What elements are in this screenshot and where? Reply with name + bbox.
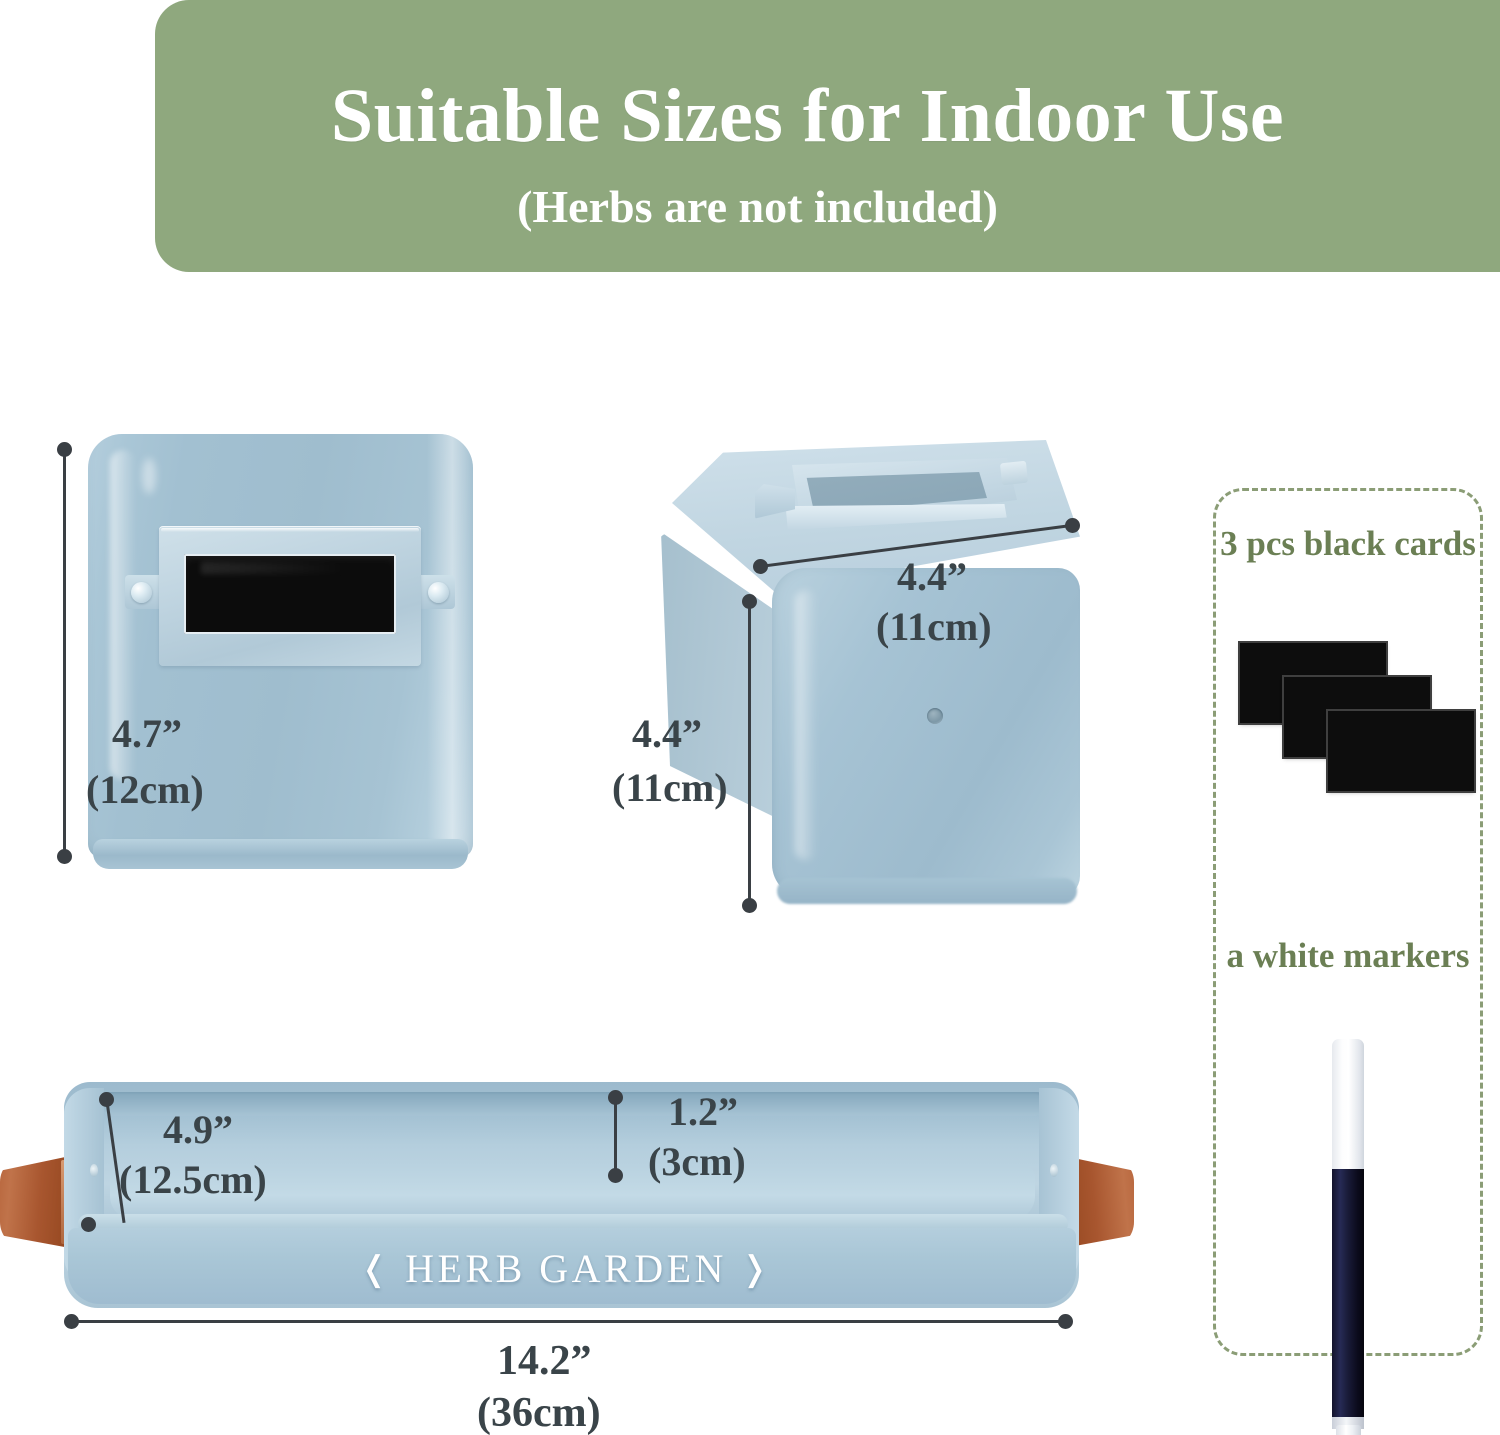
- product-planter-angled-view: [655, 440, 1080, 910]
- dimension-dot-top: [57, 442, 72, 457]
- white-marker-pen: [1328, 1039, 1368, 1435]
- tray-screw-left-icon: [90, 1164, 98, 1177]
- dimension-dot-tray-length-left: [64, 1314, 79, 1329]
- holder-top-tab-right: [1000, 461, 1028, 486]
- planter-front-gloss: [795, 590, 817, 860]
- dimension-dot-width-left: [753, 559, 768, 574]
- black-cards-label: 3 pcs black cards: [1216, 523, 1480, 566]
- dimension-line-planter-height: [63, 448, 66, 856]
- dimension-dot-tray-inner-top: [99, 1092, 114, 1107]
- dimension-label-tray-depth-cm: (3cm): [648, 1140, 746, 1185]
- accessories-panel: 3 pcs black cards a white markers: [1213, 488, 1483, 1356]
- black-label-card: [184, 554, 396, 634]
- black-cards-group: [1236, 643, 1480, 803]
- dimension-dot-bottom: [57, 849, 72, 864]
- dimension-dot-tray-depth-top: [608, 1090, 623, 1105]
- header-banner: Suitable Sizes for Indoor Use (Herbs are…: [155, 0, 1500, 272]
- marker-tip: [1336, 1425, 1361, 1435]
- dimension-dot-tray-inner-bottom: [81, 1217, 96, 1232]
- marker-barrel: [1332, 1169, 1364, 1421]
- dimension-label-tray-inner-width-in: 4.9”: [163, 1108, 233, 1153]
- dimension-label-planter-angled-height-cm: (11cm): [612, 766, 728, 811]
- dimension-label-planter-angled-height-in: 4.4”: [632, 712, 702, 757]
- dimension-line-tray-length: [70, 1320, 1070, 1323]
- dimension-label-planter-width-in: 4.4”: [897, 555, 967, 600]
- planter-angled-base: [777, 878, 1077, 904]
- dimension-dot-tray-depth-bottom: [608, 1168, 623, 1183]
- rivet-left-icon: [131, 582, 152, 603]
- dimension-label-tray-length-in: 14.2”: [497, 1338, 592, 1385]
- dimension-label-planter-height-cm: (12cm): [86, 768, 204, 813]
- planter-specular-dot: [142, 458, 156, 494]
- planter-right-edge-highlight: [427, 434, 473, 858]
- dimension-label-planter-height-in: 4.7”: [112, 712, 182, 757]
- dimension-label-tray-inner-width-cm: (12.5cm): [119, 1158, 267, 1203]
- dimension-label-tray-depth-in: 1.2”: [668, 1090, 738, 1135]
- page-subtitle: (Herbs are not included): [517, 184, 1138, 230]
- marker-cap: [1332, 1039, 1364, 1171]
- wreath-right-icon: ❭: [740, 1249, 772, 1289]
- card-holder-frame: [159, 526, 421, 666]
- tray-screw-right-icon: [1050, 1164, 1058, 1177]
- dimension-label-tray-length-cm: (36cm): [477, 1390, 601, 1435]
- dimension-dot-width-right: [1065, 518, 1080, 533]
- tray-inner-back-wall: [100, 1094, 1045, 1116]
- dimension-label-planter-width-cm: (11cm): [876, 605, 992, 650]
- black-card: [1328, 711, 1474, 791]
- dimension-line-planter-angled-height: [748, 600, 751, 905]
- rivet-right-icon: [428, 582, 449, 603]
- dimension-dot-tray-length-right: [1058, 1314, 1073, 1329]
- dimension-dot-angled-top: [742, 594, 757, 609]
- wreath-left-icon: ❬: [360, 1249, 392, 1289]
- holder-top-lip: [781, 504, 1009, 530]
- page-title: Suitable Sizes for Indoor Use: [331, 78, 1324, 154]
- drainage-hole-icon: [927, 708, 943, 724]
- dimension-dot-angled-bottom: [742, 898, 757, 913]
- card-holder-top-frame: [767, 458, 1017, 546]
- dimension-line-tray-depth: [614, 1096, 617, 1176]
- tray-engraving: ❬ HERB GARDEN ❭: [356, 1245, 776, 1292]
- planter-base-rim: [93, 839, 468, 869]
- tray-engraving-label: HERB GARDEN: [405, 1246, 727, 1291]
- white-marker-label: a white markers: [1216, 935, 1480, 978]
